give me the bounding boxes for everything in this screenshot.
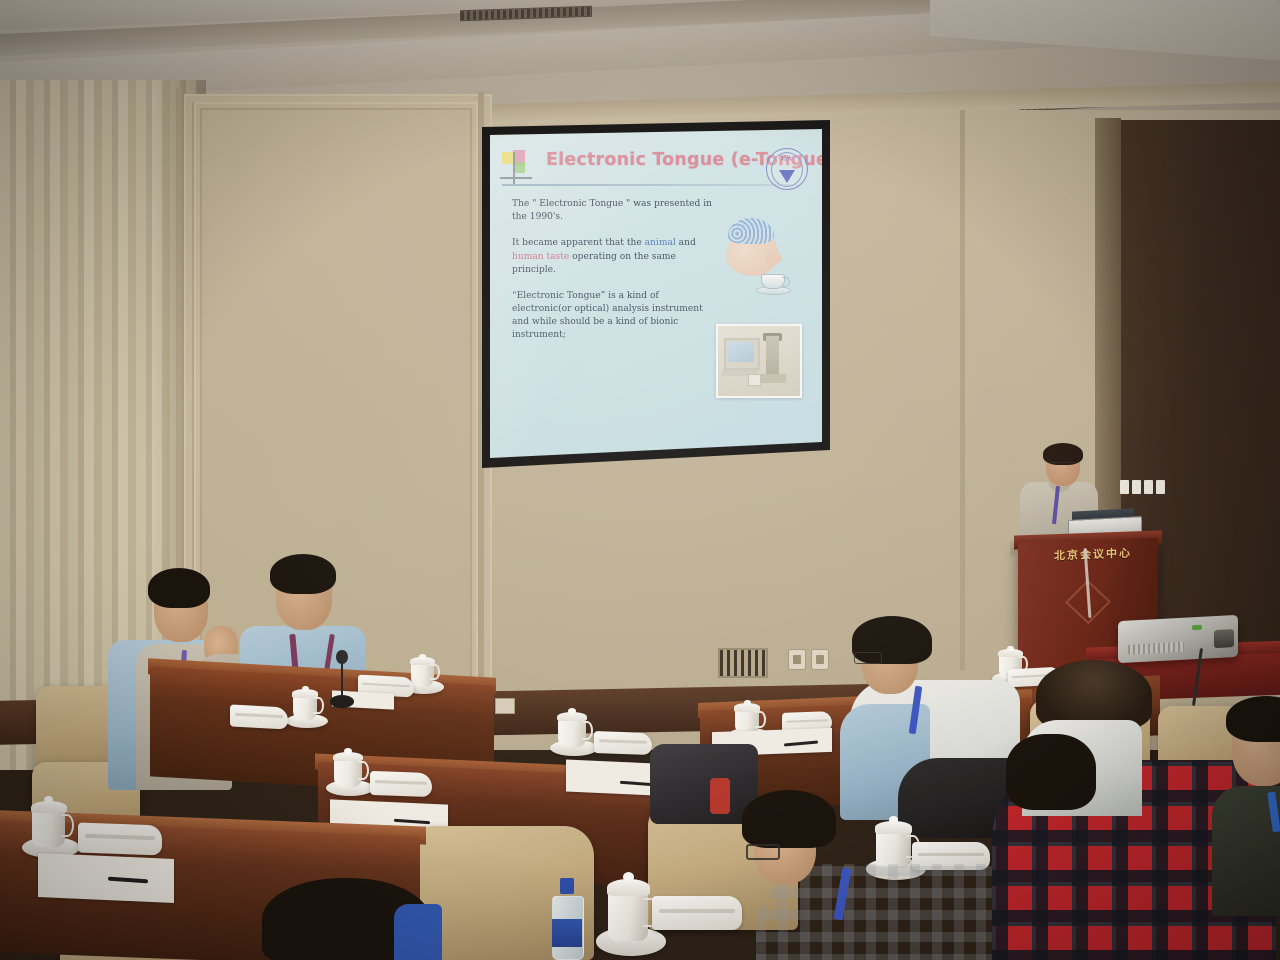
conference-room-photo: Electronic Tongue (e-Tongue) 北大 The " El… [0, 0, 1280, 960]
projector-lens-icon [1214, 629, 1234, 648]
head-brain-illustration-icon [718, 212, 792, 282]
folded-napkin [594, 731, 652, 755]
wall-seam [960, 110, 965, 670]
presentation-slide: Electronic Tongue (e-Tongue) 北大 The " El… [488, 128, 824, 458]
power-outlet[interactable] [812, 650, 828, 669]
water-bottle[interactable] [552, 878, 582, 960]
podium-venue-label: 北京会议中心 [1034, 542, 1152, 566]
teacup[interactable] [22, 796, 80, 858]
teacup[interactable] [326, 748, 374, 796]
shoulder-bag [394, 904, 442, 960]
slide-text-run: animal [645, 238, 676, 248]
eyeglasses-icon [1050, 462, 1076, 469]
seal-label: 北大 [781, 155, 793, 162]
slide-paragraph: “Electronic Tongue” is a kind of electro… [512, 290, 717, 343]
venue-wall-sign [1118, 478, 1166, 496]
coffee-cup-icon [756, 274, 790, 296]
slide-text-run: and [676, 238, 696, 248]
wall-switch-plate[interactable] [495, 698, 515, 714]
attendee-white-shirt-partial [1022, 690, 1172, 810]
attendee-far-right [1212, 700, 1280, 910]
university-seal-icon: 北大 [766, 148, 808, 190]
slide-paragraph: It became apparent that the animal and h… [512, 237, 717, 277]
power-outlet[interactable] [789, 650, 805, 669]
eyeglasses-icon [854, 652, 882, 664]
slide-title: Electronic Tongue (e-Tongue) [546, 152, 786, 170]
folded-napkin [230, 704, 288, 729]
slide-text-run: human taste [512, 252, 569, 262]
teacup[interactable] [286, 686, 328, 728]
slide-decoration-icon [500, 150, 534, 186]
notepad [38, 853, 174, 903]
wall-air-vent-icon [718, 648, 768, 678]
folded-napkin [78, 823, 162, 856]
wall-sign-glyph [1156, 480, 1165, 494]
wall-sign-glyph [1120, 480, 1129, 494]
slide-paragraph: The " Electronic Tongue " was presented … [512, 198, 717, 224]
teacup[interactable] [550, 708, 598, 756]
attendee-foreground-left [262, 878, 442, 960]
projector [1118, 615, 1238, 663]
table-microphone[interactable] [330, 650, 354, 708]
eyeglasses-icon [746, 844, 780, 860]
projection-screen: Electronic Tongue (e-Tongue) 北大 The " El… [488, 128, 824, 458]
slide-title-rule [502, 184, 798, 186]
projector-status-led [1192, 625, 1202, 631]
slide-text-run: It became apparent that the [512, 238, 645, 248]
slide-text-run: The " Electronic Tongue " was presented … [512, 199, 712, 222]
folded-napkin [370, 771, 432, 797]
wall-sign-glyph [1144, 480, 1153, 494]
slide-body-text: The " Electronic Tongue " was presented … [512, 198, 717, 356]
slide-text-run: “Electronic Tongue” is a kind of electro… [512, 291, 703, 341]
wall-sign-glyph [1132, 480, 1141, 494]
analysis-instrument-photo [716, 324, 802, 398]
